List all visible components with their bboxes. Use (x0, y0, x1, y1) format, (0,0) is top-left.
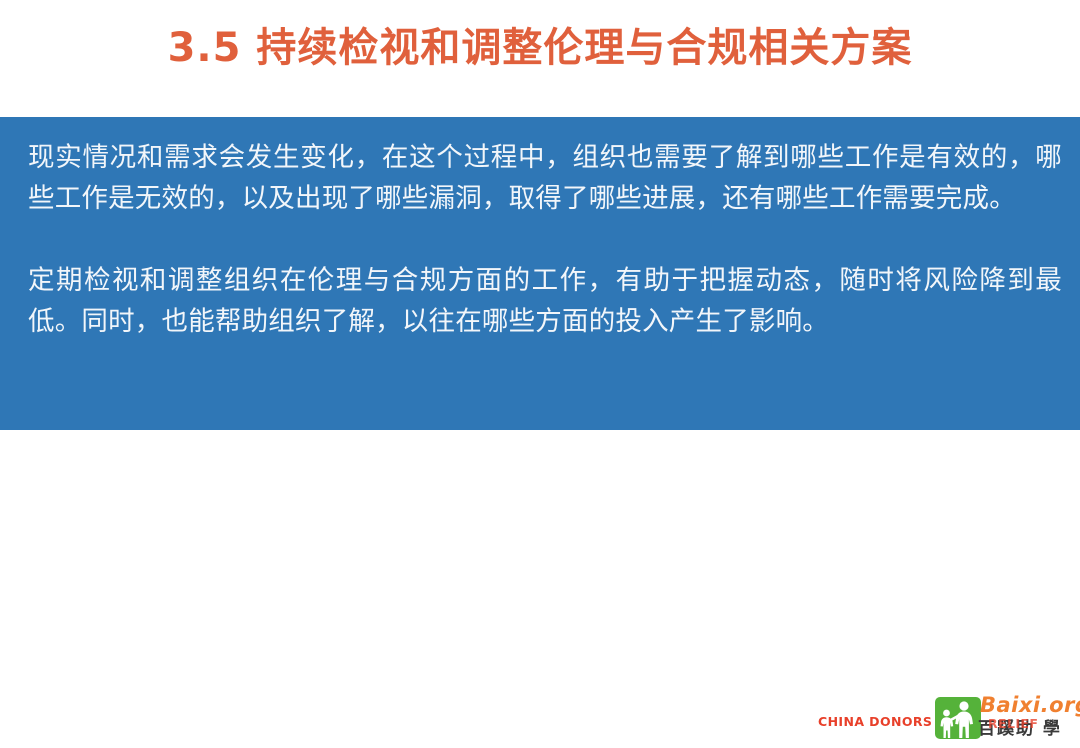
content-panel: 现实情况和需求会发生变化，在这个过程中，组织也需要了解到哪些工作是有效的，哪些工… (0, 117, 1080, 430)
body-paragraph-1: 现实情况和需求会发生变化，在这个过程中，组织也需要了解到哪些工作是有效的，哪些工… (28, 137, 1062, 219)
footer-watermark: CHINA DONORS R Baixi.org 百蹊助 學 RELIEF (818, 692, 1080, 748)
body-paragraph-2: 定期检视和调整组织在伦理与合规方面的工作，有助于把握动态，随时将风险降到最低。同… (28, 260, 1062, 342)
china-donors-label: CHINA DONORS R (818, 714, 947, 729)
adult-and-child-icon (935, 697, 981, 739)
relief-label: RELIEF (988, 716, 1038, 731)
page-title: 3.5 持续检视和调整伦理与合规相关方案 (0, 22, 1080, 74)
